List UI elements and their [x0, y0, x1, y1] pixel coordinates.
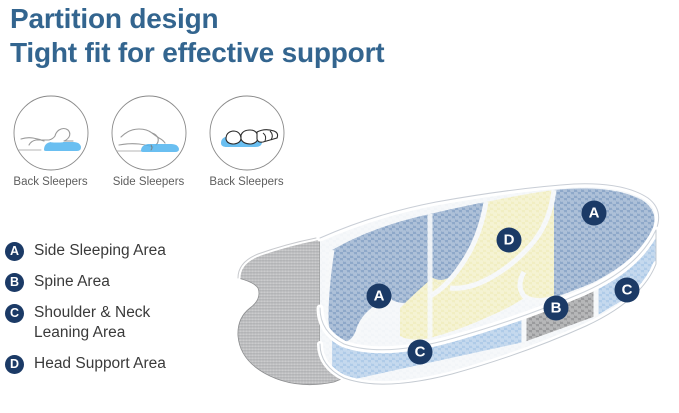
sleeper-circle-label-1: Back Sleepers: [13, 176, 87, 188]
pillow-zone-badge-c-front-text: C: [415, 344, 426, 361]
legend-label-b: Spine Area: [34, 272, 110, 292]
back-sleeper-side-profile-icon: [11, 93, 91, 173]
pillow-zone-badge-a-left-text: A: [374, 288, 385, 305]
legend-badge-d: D: [5, 355, 24, 374]
pillow-zone-badge-d-text: D: [504, 232, 515, 249]
legend-label-c-line2: Leaning Area: [34, 323, 150, 343]
sleeper-circle-2: Side Sleepers: [104, 93, 193, 188]
pillow-zone-badge-c-right: C: [615, 278, 640, 303]
legend-badge-b: B: [5, 273, 24, 292]
legend-list: A Side Sleeping Area B Spine Area C Shou…: [5, 241, 220, 385]
legend-item-a: A Side Sleeping Area: [5, 241, 220, 261]
legend-item-d: D Head Support Area: [5, 354, 220, 374]
headline-line-2: Tight fit for effective support: [10, 36, 570, 70]
pillow-zone-badge-a-right: A: [582, 201, 607, 226]
infographic-page: Partition design Tight fit for effective…: [0, 0, 679, 413]
legend-item-c: C Shoulder & Neck Leaning Area: [5, 303, 220, 343]
legend-label-d: Head Support Area: [34, 354, 166, 374]
headline-line-1: Partition design: [10, 2, 570, 36]
pillow-zone-badge-a-left: A: [367, 284, 392, 309]
headline-block: Partition design Tight fit for effective…: [10, 2, 570, 70]
legend-badge-a: A: [5, 242, 24, 261]
back-sleeper-top-view-icon: [207, 93, 287, 173]
legend-label-c: Shoulder & Neck Leaning Area: [34, 303, 150, 343]
pillow-zone-badge-b: B: [544, 296, 569, 321]
pillow-zone-badge-b-text: B: [551, 300, 562, 317]
sleeper-circle-1: Back Sleepers: [6, 93, 95, 188]
legend-label-a: Side Sleeping Area: [34, 241, 166, 261]
pillow-zone-badge-d: D: [497, 228, 522, 253]
side-sleeper-profile-icon: [109, 93, 189, 173]
legend-badge-c: C: [5, 304, 24, 323]
legend-item-b: B Spine Area: [5, 272, 220, 292]
pillow-illustration: A D A C B C: [224, 168, 679, 413]
pillow-zone-badge-c-right-text: C: [622, 282, 633, 299]
contour-pillow-svg: A D A C B C: [224, 168, 679, 413]
pillow-zone-badge-c-front: C: [408, 340, 433, 365]
pillow-zone-badge-a-right-text: A: [589, 205, 600, 222]
legend-label-c-line1: Shoulder & Neck: [34, 303, 150, 323]
sleeper-circle-label-2: Side Sleepers: [113, 176, 185, 188]
